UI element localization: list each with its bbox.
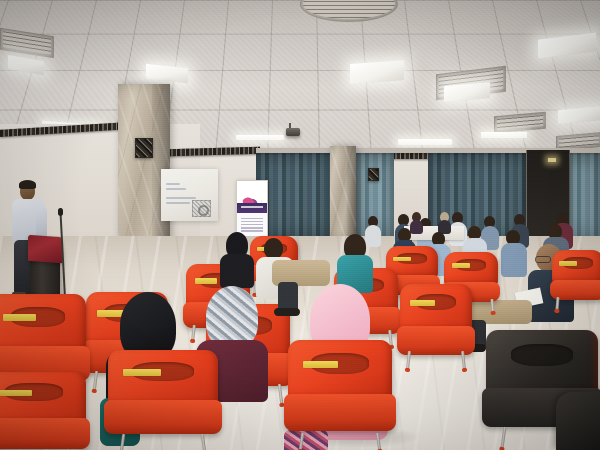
column-background-center — [330, 146, 356, 240]
light-bar-2 — [236, 135, 284, 140]
chair-front-row-d[interactable] — [288, 340, 392, 448]
microphone-head — [58, 208, 63, 216]
column-decor-tile-small — [368, 168, 379, 181]
curtain-far-right — [568, 152, 600, 242]
banner-header-band — [237, 203, 267, 214]
foreground-object-bottom-right — [556, 392, 600, 450]
chair-front-row-b[interactable] — [108, 350, 218, 450]
hijab-patterned-grey — [206, 286, 258, 348]
door-indicator-lamp — [548, 158, 556, 162]
conference-hall-photo — [0, 0, 600, 450]
chair-right-far[interactable] — [552, 250, 600, 310]
wall-cornice-far-right — [392, 152, 432, 159]
slide-logo-graphic — [192, 200, 211, 217]
chair-front-left-2[interactable] — [0, 372, 86, 450]
projection-screen — [161, 169, 218, 221]
light-panel-3 — [350, 60, 404, 84]
light-bar-4 — [481, 132, 527, 138]
podium-cloth — [28, 235, 62, 263]
ceiling-projector — [286, 128, 300, 136]
light-bar-3 — [398, 139, 452, 145]
column-decor-tile — [135, 138, 153, 158]
eyeglasses-icon — [535, 256, 551, 263]
presenter-hair — [19, 180, 36, 189]
chair-mid-row-d[interactable] — [400, 284, 472, 368]
